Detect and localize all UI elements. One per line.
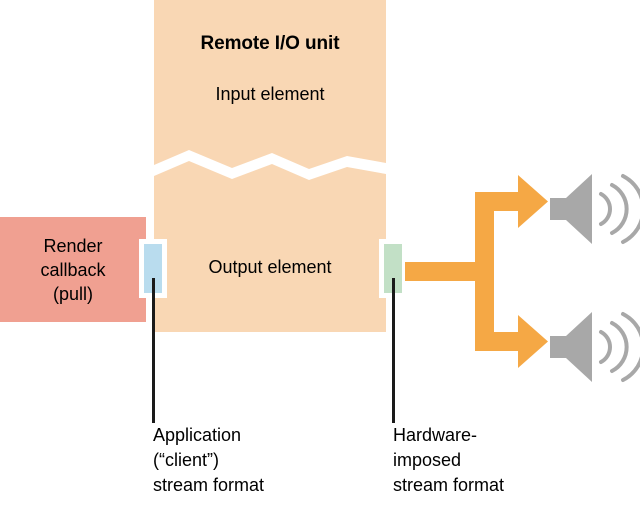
speaker-top-icon xyxy=(548,172,640,246)
audio-output-routing-arrows xyxy=(400,170,560,370)
caption-application-client-stream-format: Application (“client”) stream format xyxy=(153,423,264,498)
render-callback-line-2: callback xyxy=(40,258,105,282)
arrow-stem-horizontal xyxy=(405,262,487,281)
speaker-bottom-icon xyxy=(548,310,640,384)
render-callback-box: Render callback (pull) xyxy=(0,217,146,322)
speaker-wave-2 xyxy=(612,323,627,371)
render-callback-line-1: Render xyxy=(43,234,102,258)
speaker-wave-1 xyxy=(601,332,610,362)
arrowhead-bottom-icon xyxy=(518,315,548,368)
leader-line-left xyxy=(152,278,155,423)
arrowhead-top-icon xyxy=(518,175,548,228)
arrow-branch-bottom xyxy=(475,332,530,351)
render-callback-line-3: (pull) xyxy=(53,282,93,306)
remote-io-unit-title: Remote I/O unit xyxy=(154,33,386,55)
speaker-cone-shape xyxy=(550,174,592,244)
remote-io-unit-box: Remote I/O unit Input element Output ele… xyxy=(154,0,386,332)
audio-unit-diagram: Remote I/O unit Input element Output ele… xyxy=(0,0,642,511)
arrow-branch-top xyxy=(475,192,530,211)
speaker-wave-1 xyxy=(601,194,610,224)
speaker-cone-shape xyxy=(550,312,592,382)
input-element-label: Input element xyxy=(154,84,386,105)
caption-hardware-imposed-stream-format: Hardware- imposed stream format xyxy=(393,423,504,498)
output-element-label: Output element xyxy=(154,257,386,278)
arrow-riser-vertical xyxy=(475,192,494,351)
speaker-wave-2 xyxy=(612,185,627,233)
leader-line-right xyxy=(392,278,395,423)
